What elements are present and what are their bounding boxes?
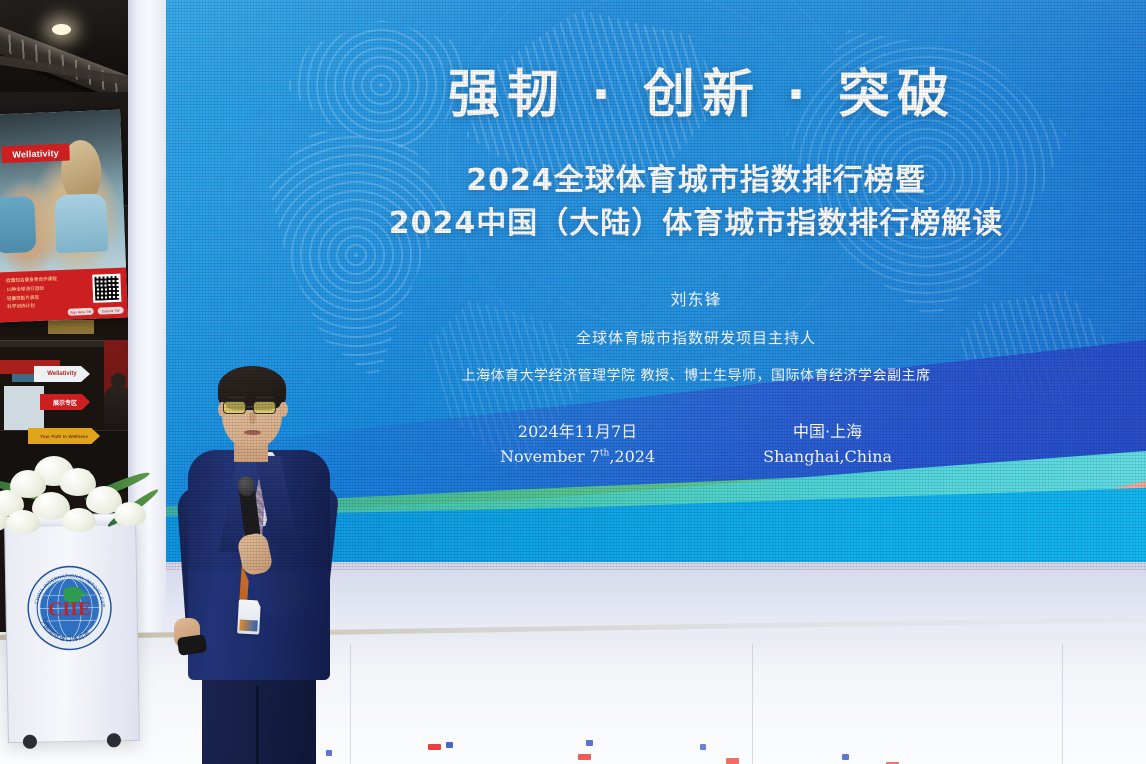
- floor-tape-mark: [578, 754, 591, 760]
- arrow-sign-zone: 展示专区: [40, 394, 90, 410]
- event-location-cn: 中国·上海: [763, 420, 892, 445]
- floor-seam: [350, 644, 351, 764]
- poster-photo: [0, 110, 126, 275]
- presenter-affiliation: 上海体育大学经济管理学院 教授、博士生导师，国际体育经济学会副主席: [246, 365, 1146, 385]
- event-location-en: Shanghai,China: [763, 445, 892, 470]
- booth-shelf: [0, 340, 110, 347]
- event-location: 中国·上海 Shanghai,China: [763, 420, 892, 470]
- arrow-sign-tagline: Your Path to Wellness: [28, 428, 100, 444]
- qr-code-icon: [92, 274, 121, 303]
- slide-headline: 强韧 · 创新 · 突破: [166, 52, 1146, 127]
- stage-photo-scene: Wellativity 展示专区 Your Path to Wellness W…: [0, 0, 1146, 764]
- svg-text:CIIE: CIIE: [48, 598, 91, 621]
- ciie-logo-icon: CIIE CHINA INTERNATIONAL IMPORT EXPO 中国国…: [24, 562, 116, 654]
- event-date-en: November 7th,2024: [500, 445, 655, 470]
- floor-tape-mark: [586, 740, 593, 746]
- led-text-block: 强韧 · 创新 · 突破 2024全球体育城市指数排行榜暨 2024中国（大陆）…: [166, 0, 1146, 570]
- person-leg-split: [256, 686, 259, 764]
- flower-petal: [62, 508, 96, 532]
- ciie-podium: CIIE CHINA INTERNATIONAL IMPORT EXPO 中国国…: [4, 519, 140, 743]
- poster-info-band: · 欧盟知名健身竞合作课程 · 15种全球流行运动 · 轻量观影片表现 · 科学…: [0, 268, 128, 323]
- arrow-sign-wellativity: Wellativity: [34, 366, 90, 382]
- floor-seam: [752, 644, 753, 764]
- slide-subtitle-line1: 2024全球体育城市指数排行榜暨: [246, 160, 1146, 203]
- presentation-clicker-icon: [177, 634, 207, 656]
- stage-floor: [0, 632, 1146, 764]
- floor-tape-mark: [700, 744, 706, 750]
- floor-tape-mark: [428, 744, 441, 750]
- event-date-en-sup: th: [600, 448, 609, 458]
- flower-petal: [114, 502, 146, 526]
- flower-arrangement: [0, 452, 162, 540]
- event-date-en-suffix: ,2024: [609, 447, 655, 466]
- date-location-bar: 2024年11月7日 November 7th,2024 中国·上海 Shang…: [166, 420, 1146, 470]
- poster-figure-back: [0, 196, 37, 254]
- event-date: 2024年11月7日 November 7th,2024: [500, 420, 655, 470]
- poster-pill-left: Sign Here TW: [68, 308, 94, 316]
- floor-tape-mark: [842, 754, 849, 760]
- poster-pill-right: Outlook TW: [98, 307, 124, 315]
- wellativity-logo: Wellativity: [1, 144, 70, 164]
- slide-subtitle-line2: 2024中国（大陆）体育城市指数排行榜解读: [246, 203, 1146, 246]
- wellativity-poster: Wellativity · 欧盟知名健身竞合作课程 · 15种全球流行运动 · …: [0, 110, 128, 323]
- presenter-role: 全球体育城市指数研发项目主持人: [246, 327, 1146, 348]
- floor-tape-mark: [726, 758, 739, 764]
- floor-tape-mark: [446, 742, 453, 748]
- poster-bullet-list: · 欧盟知名健身竞合作课程 · 15种全球流行运动 · 轻量观影片表现 · 科学…: [3, 274, 78, 312]
- ceiling-spotlight-icon: [52, 24, 71, 35]
- poster-figure-top: [54, 193, 108, 253]
- flower-petal: [6, 510, 40, 534]
- booth-sign: [48, 320, 94, 334]
- slide-subtitle: 2024全球体育城市指数排行榜暨 2024中国（大陆）体育城市指数排行榜解读: [166, 160, 1146, 245]
- main-stage-led-screen: 强韧 · 创新 · 突破 2024全球体育城市指数排行榜暨 2024中国（大陆）…: [166, 0, 1146, 570]
- event-date-cn: 2024年11月7日: [500, 420, 655, 445]
- event-date-en-prefix: November 7: [500, 447, 600, 466]
- presenter-name: 刘东锋: [246, 286, 1146, 310]
- person-badge: [237, 599, 261, 634]
- presenter-info: 刘东锋 全球体育城市指数研发项目主持人 上海体育大学经济管理学院 教授、博士生导…: [166, 286, 1146, 385]
- floor-seam: [1062, 644, 1063, 764]
